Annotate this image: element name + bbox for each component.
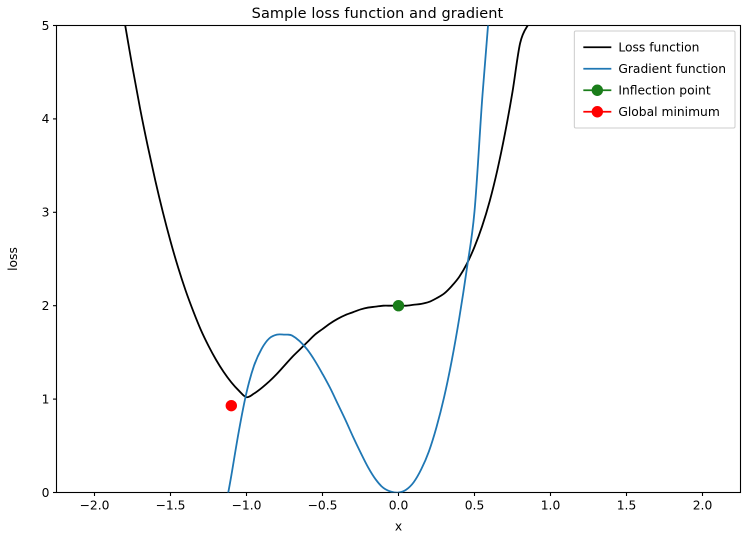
y-tick-label: 3	[42, 206, 50, 220]
series-line-1	[125, 23, 532, 398]
series-line-2	[228, 24, 488, 493]
legend[interactable]: Loss functionGradient functionInflection…	[574, 31, 735, 128]
legend-label-3: Inflection point	[618, 84, 710, 98]
y-tick-label: 2	[42, 299, 50, 313]
legend-label-4: Global minimum	[618, 105, 720, 119]
figure-canvas: Sample loss function and gradient −2.0−1…	[0, 0, 755, 547]
x-tick-label: 1.0	[541, 499, 561, 513]
x-axis-label: x	[395, 520, 402, 534]
legend-marker-4	[592, 107, 602, 117]
legend-label-2: Gradient function	[618, 62, 726, 76]
y-tick-label: 0	[42, 486, 50, 500]
legend-marker-3	[592, 85, 602, 95]
y-tick-label: 5	[42, 19, 50, 33]
y-tick-label: 1	[42, 392, 50, 406]
x-tick-label: 0.0	[389, 499, 409, 513]
x-tick-label: −1.0	[232, 499, 262, 513]
x-tick-label: −1.5	[156, 499, 186, 513]
x-tick-label: 0.5	[465, 499, 485, 513]
y-tick-label: 4	[42, 112, 50, 126]
marker-point-2[interactable]	[226, 400, 236, 410]
x-tick-label: −2.0	[80, 499, 110, 513]
legend-label-1: Loss function	[618, 41, 699, 55]
marker-point-1[interactable]	[393, 301, 403, 311]
x-tick-label: 1.5	[617, 499, 637, 513]
data-series-group	[125, 23, 532, 493]
x-tick-label: −0.5	[308, 499, 338, 513]
x-tick-label: 2.0	[693, 499, 713, 513]
plot-area: −2.0−1.5−1.0−0.50.00.51.01.52.0012345xlo…	[0, 0, 755, 547]
y-axis-label: loss	[6, 247, 20, 271]
